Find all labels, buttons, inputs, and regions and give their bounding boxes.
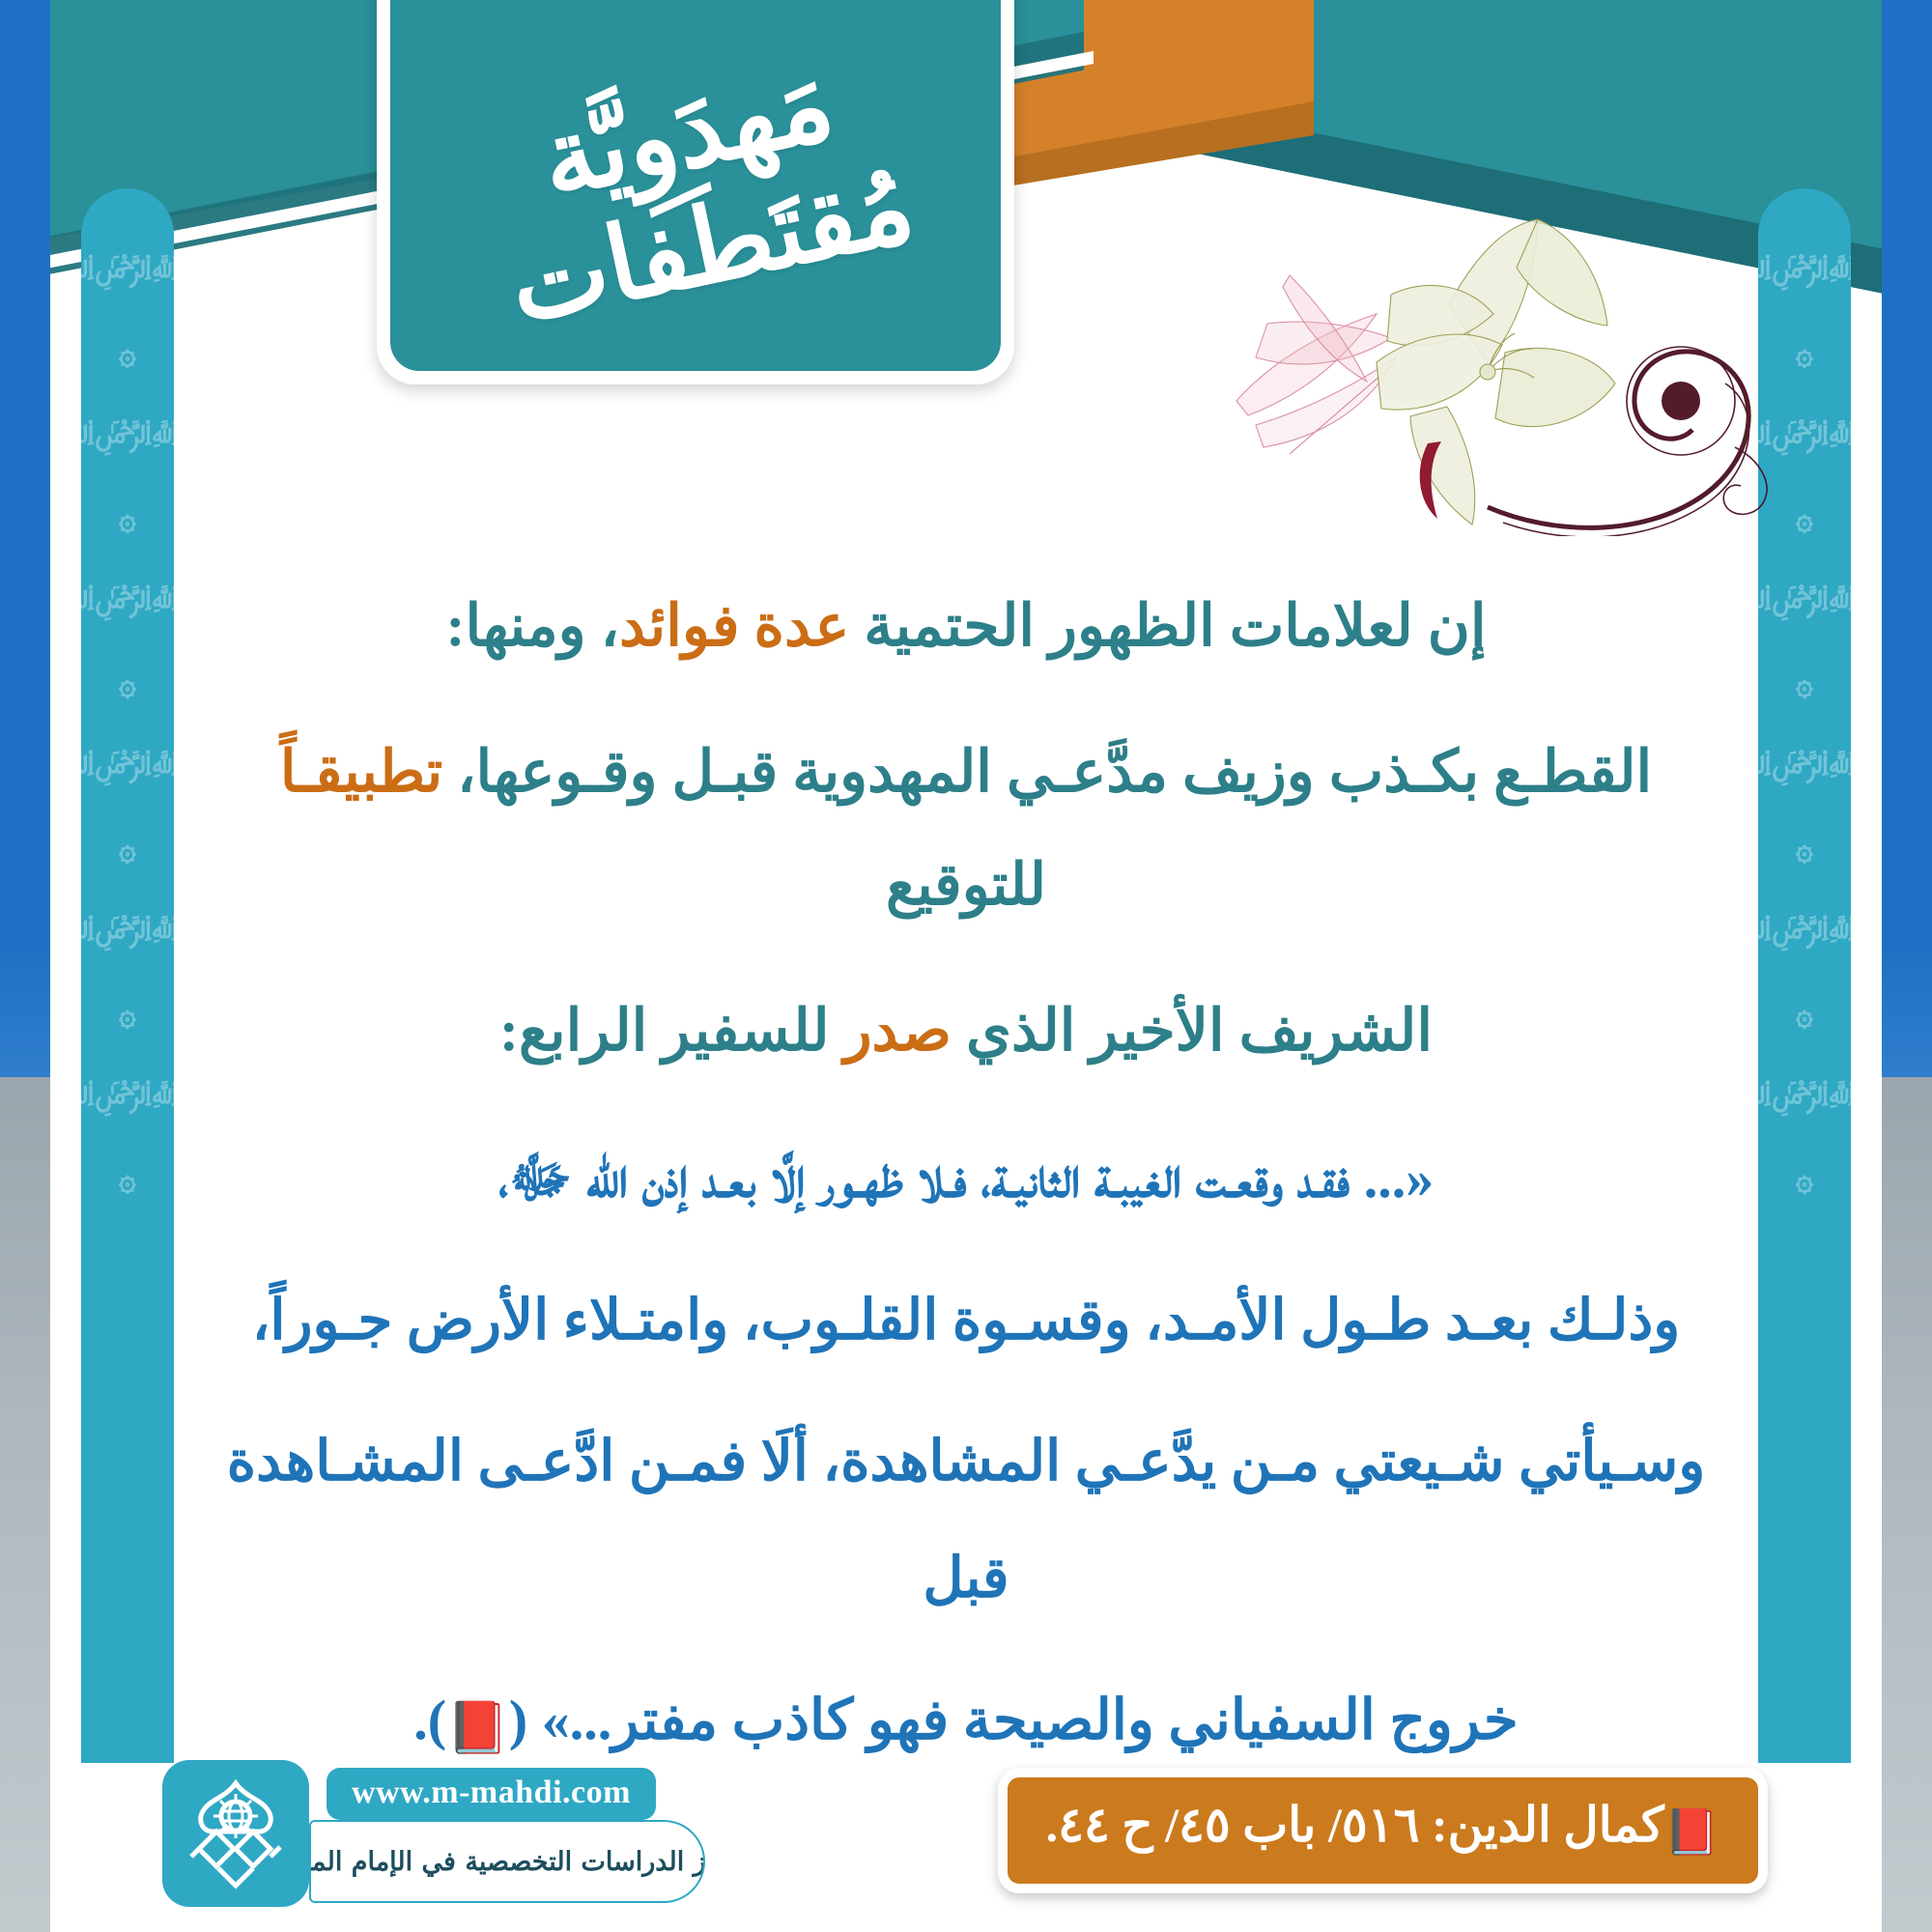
brand-text-wrap: www.m-mahdi.com مركز الدراسات التخصصية ف… [299,1760,705,1907]
paragraph-2-highlight: تطبيقـاً [280,740,442,804]
decor-motif: ﷽ [1758,903,1851,959]
decor-motif: ﷽ [1758,573,1851,629]
decor-motif: ۞ [119,664,136,703]
decor-column-left-motifs: ﷽ ۞ ﷽ ۞ ﷽ ۞ ﷽ ۞ ﷽ ۞ ﷽ ۞ [81,188,174,1763]
decor-motif: ۞ [1796,664,1813,703]
paragraph-2-text-b: للتوقيع [886,853,1046,917]
paragraph-3: الشريف الأخير الذي صدر للسفير الرابع: [203,975,1729,1088]
decor-motif: ۞ [119,829,136,868]
globe-dome-icon [162,1760,309,1907]
lily-flower-icon [1198,217,1816,536]
website-url[interactable]: www.m-mahdi.com [327,1768,656,1820]
book-icon: 📕 [1664,1807,1719,1857]
decor-motif: ﷽ [81,573,174,629]
decor-motif: ﷽ [81,738,174,794]
hadith-quote-line-2: وذلـك بعـد طـول الأمـد، وقسـوة القلـوب، … [203,1263,1729,1379]
decor-motif: ۞ [119,498,136,538]
decor-motif: ﷽ [81,1068,174,1124]
decor-motif: ﷽ [1758,1068,1851,1124]
decor-column-left: ﷽ ۞ ﷽ ۞ ﷽ ۞ ﷽ ۞ ﷽ ۞ ﷽ ۞ [81,188,174,1763]
paragraph-2: القطـع بكـذب وزيف مدَّعـي المهدوية قبـل … [203,716,1729,942]
paragraph-1-text-b: ، ومنها: [445,594,619,658]
logo-inner-panel: مَهدَوِيَّة مُقتَطَفات [390,0,1001,371]
paragraph-3-highlight: صدر [844,999,952,1063]
frame-strip-right-blue [1882,0,1932,1077]
decor-motif: ۞ [119,333,136,373]
decor-motif: ۞ [119,994,136,1034]
hadith-quote-line-3: وسـيأتي شـيعتي مـن يدَّعـي المشاهدة، ألَ… [203,1404,1729,1636]
paragraph-3-text-a: الشريف الأخير الذي [952,999,1433,1063]
decor-motif: ﷽ [81,903,174,959]
decor-motif: ۞ [1796,829,1813,868]
paragraph-1-highlight: عدة فوائد [619,594,849,658]
decor-motif: ﷽ [1758,738,1851,794]
footer: www.m-mahdi.com مركز الدراسات التخصصية ف… [0,1690,1932,1932]
brand-arabic-name: مركز الدراسات التخصصية في الإمام المهدي [309,1820,705,1903]
paragraph-1-text-a: إن لعلامات الظهور الحتمية [849,594,1486,658]
decor-motif: ﷽ [81,242,174,298]
paragraph-2-text-a: القطـع بكـذب وزيف مدَّعـي المهدوية قبـل … [442,740,1652,804]
frame-strip-left-blue [0,0,50,1077]
logo-plate: مَهدَوِيَّة مُقتَطَفات [377,0,1014,384]
citation-text: كمال الدين: ٥١٦/ باب ٤٥/ ح ٤٤. [1046,1798,1664,1852]
main-content: إن لعلامات الظهور الحتمية عدة فوائد، ومن… [203,570,1729,1781]
paragraph-3-text-b: للسفير الرابع: [499,999,844,1063]
decor-motif: ۞ [1796,1159,1813,1199]
poster-root: مَهدَوِيَّة مُقتَطَفات [0,0,1932,1932]
logo-title-calligraphy: مَهدَوِيَّة مُقتَطَفات [390,0,1001,371]
source-citation-badge: 📕كمال الدين: ٥١٦/ باب ٤٥/ ح ٤٤. [998,1768,1768,1893]
decor-motif: ۞ [1796,994,1813,1034]
hadith-quote-line-1: «... فقـد وقعـت الغيبـة الثانيـة، فـلا ظ… [203,1121,1729,1237]
decor-motif: ۞ [119,1159,136,1199]
decor-motif: ﷽ [81,408,174,464]
paragraph-1: إن لعلامات الظهور الحتمية عدة فوائد، ومن… [203,570,1729,683]
brand-block[interactable]: www.m-mahdi.com مركز الدراسات التخصصية ف… [162,1760,705,1907]
